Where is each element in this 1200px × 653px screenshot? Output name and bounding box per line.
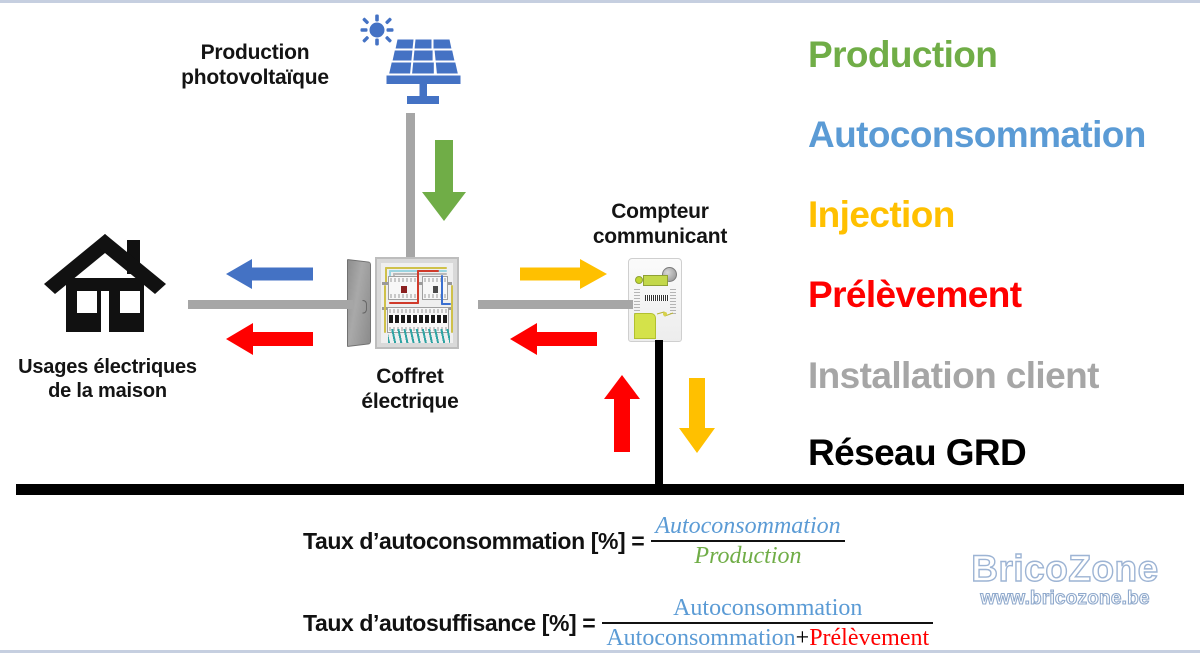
legend-label-installation-client: Installation client — [808, 355, 1099, 396]
house-cabinet-line — [188, 300, 353, 309]
breaker-block — [388, 276, 418, 300]
house-svg — [30, 232, 180, 342]
electrical-cabinet-icon — [347, 257, 459, 349]
top-border — [0, 0, 1200, 3]
legend-label-autoconsommation: Autoconsommation — [808, 114, 1146, 155]
formula-1-numerator: Autoconsommation — [651, 512, 844, 540]
production-arrow — [421, 140, 467, 227]
formula-1-fraction: Autoconsommation Production — [651, 512, 844, 571]
legend-item-reseau-grd: Réseau GRD — [808, 434, 1026, 471]
meter-seal-icon — [656, 309, 674, 319]
legend-label-reseau-grd: Réseau GRD — [808, 432, 1026, 473]
sun-icon — [361, 15, 394, 46]
arrow-right-yellow — [519, 258, 607, 290]
house-icon — [30, 232, 180, 342]
solar-panel-svg — [360, 14, 470, 104]
prelevement-arrow-grid — [603, 375, 641, 458]
smart-meter-icon — [628, 258, 682, 342]
meter-barcode — [645, 295, 669, 301]
legend-item-injection: Injection — [808, 196, 955, 233]
production-pv-label: Production photovoltaïque — [150, 41, 360, 91]
formula-taux-autoconsommation: Taux d’autoconsommation [%] = Autoconsom… — [303, 512, 845, 571]
cabinet-handle — [362, 300, 366, 313]
brand-name: BricoZone — [955, 550, 1175, 587]
meter-ticks-left — [634, 289, 640, 315]
solar-panel-icon — [360, 14, 470, 104]
meter-label: Compteur communicant — [575, 200, 745, 250]
cabinet-label: Coffret électrique — [330, 365, 490, 415]
injection-arrow-grid — [678, 378, 716, 459]
brand-url: www.bricozone.be — [955, 589, 1175, 610]
house-label: Usages électriques de la maison — [0, 356, 215, 403]
cabinet-body — [375, 257, 459, 349]
arrow-up-red — [603, 375, 641, 453]
formula-2-fraction: Autoconsommation Autoconsommation+Prélèv… — [602, 594, 933, 653]
arrow-left-blue — [226, 258, 314, 290]
formula-2-lhs: Taux d’autosuffisance [%] = — [303, 610, 595, 637]
legend-item-autoconsommation: Autoconsommation — [808, 116, 1146, 153]
legend-label-injection: Injection — [808, 194, 955, 235]
legend-item-installation-client: Installation client — [808, 357, 1099, 394]
arrow-left-red-2 — [510, 322, 598, 356]
formula-2-den-part-1: Autoconsommation — [606, 625, 795, 651]
meter-to-grid-line — [655, 340, 663, 492]
diagram-canvas: Production photovoltaïque — [0, 0, 1200, 653]
panel-cells — [389, 40, 458, 74]
prelevement-arrow-meter — [510, 322, 598, 361]
arrow-left-red — [226, 322, 314, 356]
breaker-block — [422, 276, 448, 300]
meter-lcd-display — [643, 275, 668, 286]
cabinet-meter-line — [478, 300, 633, 309]
formula-1-lhs: Taux d’autoconsommation [%] = — [303, 528, 644, 555]
arrow-down-green — [421, 140, 467, 222]
formula-2-denominator: Autoconsommation+Prélèvement — [602, 624, 933, 652]
legend-item-prelevement: Prélèvement — [808, 276, 1021, 313]
legend-label-prelevement: Prélèvement — [808, 274, 1021, 315]
grid-bus-line — [16, 484, 1184, 495]
autoconsommation-arrow — [226, 258, 314, 295]
meter-terminal-cover — [634, 313, 656, 339]
meter-led — [635, 276, 643, 284]
formula-taux-autosuffisance: Taux d’autosuffisance [%] = Autoconsomma… — [303, 594, 933, 653]
injection-arrow-meter — [519, 258, 607, 295]
legend-item-production: Production — [808, 36, 997, 73]
arrow-down-yellow — [678, 378, 716, 454]
legend-label-production: Production — [808, 34, 997, 75]
formula-1-denominator: Production — [651, 542, 844, 570]
brand-watermark: BricoZone www.bricozone.be — [955, 550, 1175, 610]
cabinet-interior — [381, 263, 453, 343]
prelevement-arrow-house — [226, 322, 314, 361]
formula-2-den-part-2: + — [796, 625, 810, 651]
formula-2-den-part-3: Prélèvement — [809, 625, 929, 651]
formula-2-numerator: Autoconsommation — [602, 594, 933, 622]
